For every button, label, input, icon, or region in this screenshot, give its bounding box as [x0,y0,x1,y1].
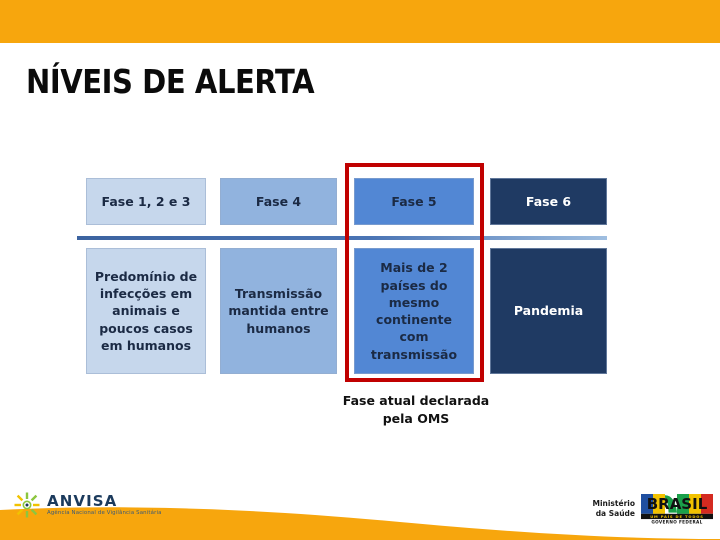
phase-header-2[interactable]: Fase 4 [220,178,337,225]
phase-header-4[interactable]: Fase 6 [490,178,607,225]
anvisa-wordmark: ANVISA Agência Nacional de Vigilância Sa… [47,494,162,516]
anvisa-star-icon [14,492,40,518]
brasil-slogan: UM PAÍS DE TODOS [650,514,704,519]
phase-body-4[interactable]: Pandemia [490,248,607,374]
anvisa-name: ANVISA [47,494,162,509]
government-logo-block: Ministério da Saúde BRASIL UM PAÍS DE TO… [592,494,713,524]
current-phase-caption: Fase atual declarada pela OMS [330,392,502,427]
current-phase-highlight [345,163,484,382]
brasil-government-logo: BRASIL UM PAÍS DE TODOS GOVERNO FEDERAL [641,494,713,524]
svg-text:BRASIL: BRASIL [647,495,708,513]
alert-levels-diagram: Fase 1, 2 e 3 Fase 4 Fase 5 Fase 6 Predo… [0,0,720,540]
ministry-of-health-label: Ministério da Saúde [592,499,635,518]
anvisa-logo: ANVISA Agência Nacional de Vigilância Sa… [14,492,162,518]
anvisa-tagline: Agência Nacional de Vigilância Sanitária [47,511,162,516]
phase-body-2[interactable]: Transmissão mantida entre humanos [220,248,337,374]
slide-canvas: NÍVEIS DE ALERTA Fase 1, 2 e 3 Fase 4 Fa… [0,0,720,540]
horizontal-divider [77,236,607,240]
phase-header-1[interactable]: Fase 1, 2 e 3 [86,178,206,225]
phase-body-1[interactable]: Predomínio de infecções em animais e pou… [86,248,206,374]
brasil-federal: GOVERNO FEDERAL [651,519,702,524]
